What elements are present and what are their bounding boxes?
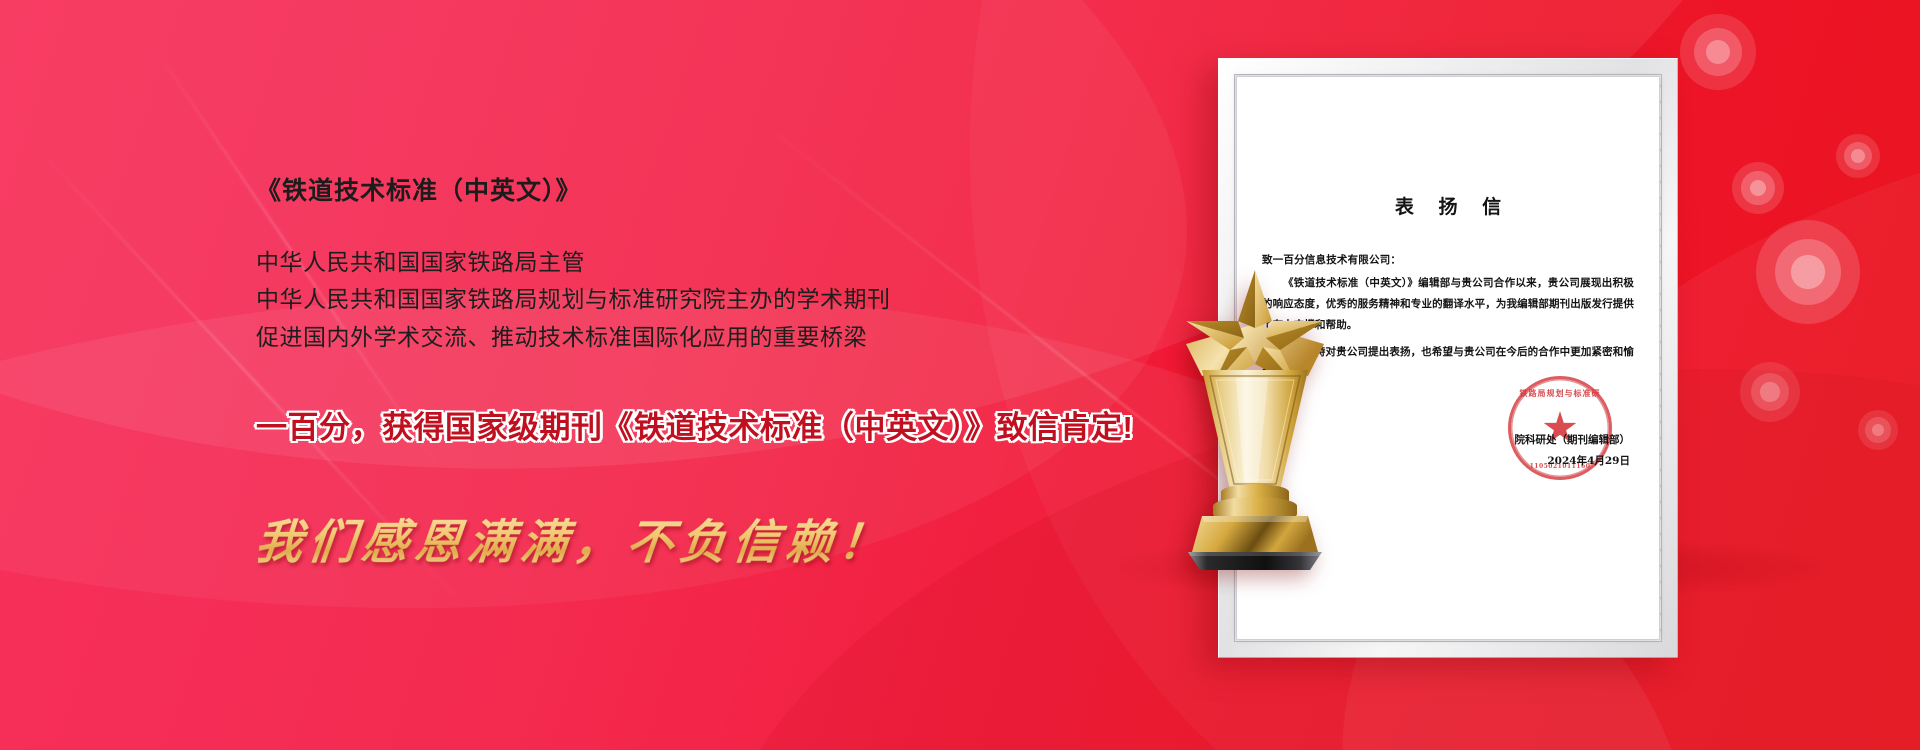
bokeh-ring-core bbox=[1750, 180, 1767, 197]
bokeh-ring-mid bbox=[1775, 239, 1842, 306]
bokeh-ring-core bbox=[1851, 149, 1865, 163]
bokeh-circle bbox=[1680, 14, 1756, 90]
bokeh-circle bbox=[1740, 362, 1800, 422]
subline-1: 中华人民共和国国家铁路局主管 bbox=[256, 244, 1196, 281]
gratitude-calligraphy: 我们感恩满满，不负信赖！ bbox=[252, 503, 1199, 572]
bokeh-ring-core bbox=[1706, 40, 1730, 64]
seal-arc-top-text: 铁路局规划与标准研 bbox=[1511, 388, 1609, 399]
star-trophy-icon bbox=[1140, 252, 1370, 572]
subline-group: 中华人民共和国国家铁路局主管 中华人民共和国国家铁路局规划与标准研究院主办的学术… bbox=[256, 244, 1196, 356]
bokeh-ring-mid bbox=[1844, 142, 1872, 170]
bokeh-ring-core bbox=[1760, 382, 1779, 401]
bokeh-ring-core bbox=[1872, 424, 1885, 437]
journal-title: 《铁道技术标准（中英文）》 bbox=[256, 176, 1196, 206]
certificate-signature-block: 院科研处（期刊编辑部） 2024年4月29日 bbox=[1515, 430, 1631, 472]
bokeh-circle bbox=[1858, 410, 1898, 450]
certificate-date: 2024年4月29日 bbox=[1515, 451, 1631, 472]
certificate-title: 表 扬 信 bbox=[1262, 192, 1634, 219]
copy-block: 《铁道技术标准（中英文）》 中华人民共和国国家铁路局主管 中华人民共和国国家铁路… bbox=[256, 176, 1196, 572]
award-headline: 一百分，获得国家级期刊《铁道技术标准（中英文）》致信肯定! bbox=[256, 402, 1196, 447]
bokeh-circle bbox=[1756, 220, 1860, 324]
bokeh-circle bbox=[1836, 134, 1880, 178]
bokeh-ring-core bbox=[1791, 255, 1824, 288]
bokeh-ring-mid bbox=[1751, 373, 1789, 411]
subline-3: 促进国内外学术交流、推动技术标准国际化应用的重要桥梁 bbox=[256, 319, 1196, 356]
award-banner: 《铁道技术标准（中英文）》 中华人民共和国国家铁路局主管 中华人民共和国国家铁路… bbox=[0, 0, 1920, 750]
bokeh-circle bbox=[1732, 162, 1784, 214]
bokeh-ring-mid bbox=[1741, 171, 1774, 204]
certificate-signer: 院科研处（期刊编辑部） bbox=[1515, 430, 1631, 451]
subline-2: 中华人民共和国国家铁路局规划与标准研究院主办的学术期刊 bbox=[256, 281, 1196, 318]
bokeh-ring-mid bbox=[1865, 417, 1891, 443]
bokeh-ring-mid bbox=[1694, 28, 1743, 77]
